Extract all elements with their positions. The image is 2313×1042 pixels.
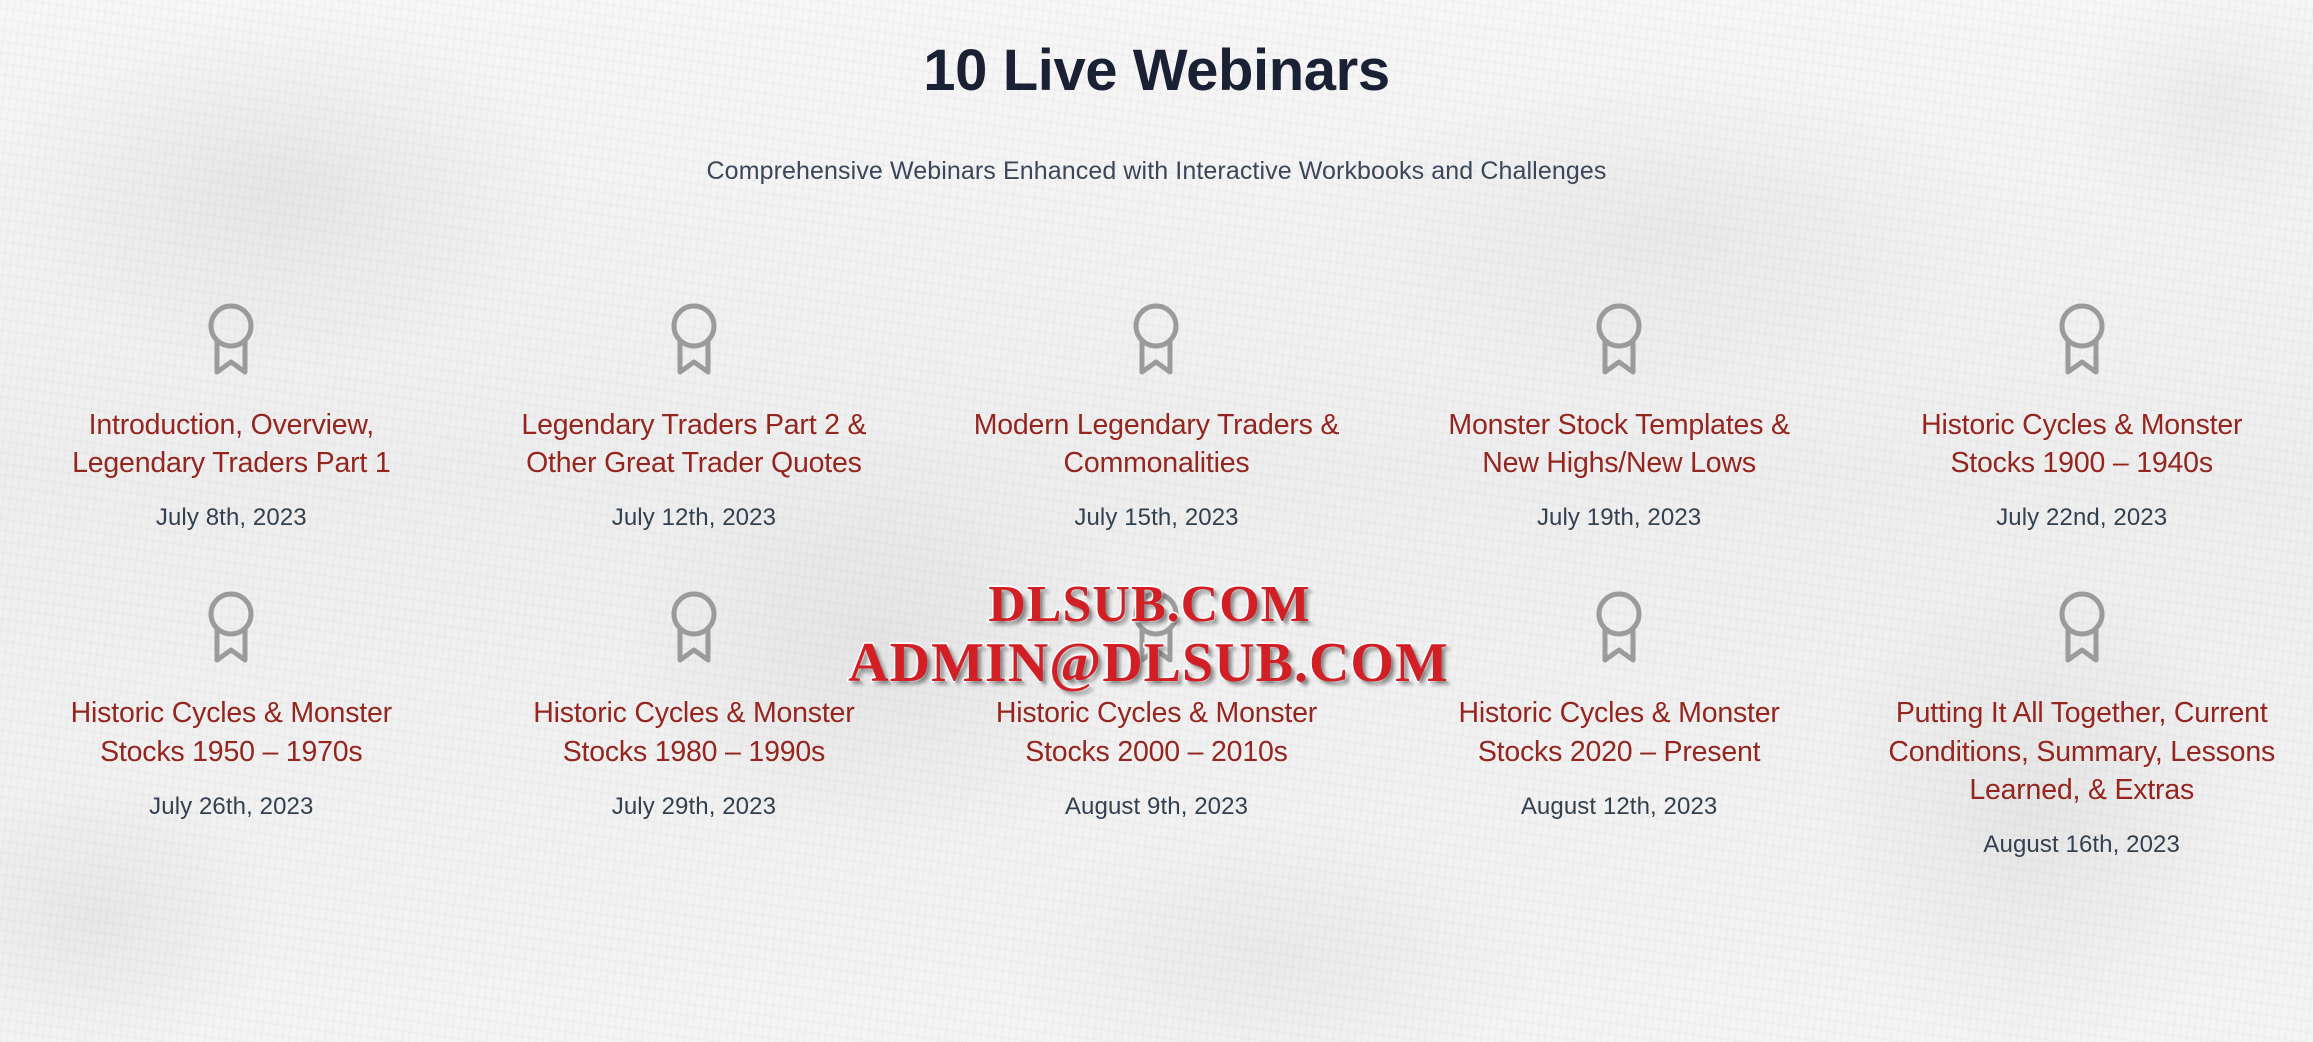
webinar-date: July 15th, 2023 <box>1074 504 1238 532</box>
webinar-card[interactable]: Historic Cycles & Monster Stocks 2020 – … <box>1388 588 1851 859</box>
webinar-title: Historic Cycles & Monster Stocks 1900 – … <box>1882 406 2282 482</box>
webinar-date: July 22nd, 2023 <box>1996 504 2167 532</box>
webinar-card[interactable]: Modern Legendary Traders & Commonalities… <box>925 300 1388 532</box>
webinar-card[interactable]: Introduction, Overview, Legendary Trader… <box>0 300 463 532</box>
webinar-grid: Introduction, Overview, Legendary Trader… <box>0 300 2313 859</box>
webinar-title: Monster Stock Templates & New Highs/New … <box>1419 406 1819 482</box>
webinar-card[interactable]: Historic Cycles & Monster Stocks 1950 – … <box>0 588 463 859</box>
webinar-date: July 19th, 2023 <box>1537 504 1701 532</box>
webinar-date: July 12th, 2023 <box>612 504 776 532</box>
webinar-card[interactable]: Legendary Traders Part 2 & Other Great T… <box>463 300 926 532</box>
award-ribbon-icon <box>2051 588 2113 666</box>
page-header: 10 Live Webinars Comprehensive Webinars … <box>0 0 2313 186</box>
webinar-title: Historic Cycles & Monster Stocks 2020 – … <box>1419 694 1819 770</box>
webinar-date: August 16th, 2023 <box>1983 831 2180 859</box>
webinar-title: Historic Cycles & Monster Stocks 1950 – … <box>31 694 431 770</box>
webinar-title: Historic Cycles & Monster Stocks 2000 – … <box>956 694 1356 770</box>
page-title: 10 Live Webinars <box>0 38 2313 105</box>
webinars-page: 10 Live Webinars Comprehensive Webinars … <box>0 0 2313 1042</box>
webinar-date: July 8th, 2023 <box>156 504 307 532</box>
award-ribbon-icon <box>2051 300 2113 378</box>
webinar-date: July 29th, 2023 <box>612 793 776 821</box>
webinar-date: August 9th, 2023 <box>1065 793 1248 821</box>
award-ribbon-icon <box>1125 300 1187 378</box>
webinar-card[interactable]: Historic Cycles & Monster Stocks 1900 – … <box>1850 300 2313 532</box>
webinar-title: Modern Legendary Traders & Commonalities <box>956 406 1356 482</box>
webinar-date: August 12th, 2023 <box>1521 793 1718 821</box>
webinar-title: Putting It All Together, Current Conditi… <box>1882 694 2282 809</box>
webinar-title: Introduction, Overview, Legendary Trader… <box>31 406 431 482</box>
webinar-title: Historic Cycles & Monster Stocks 1980 – … <box>494 694 894 770</box>
webinar-card[interactable]: Putting It All Together, Current Conditi… <box>1850 588 2313 859</box>
award-ribbon-icon <box>663 588 725 666</box>
award-ribbon-icon <box>200 300 262 378</box>
award-ribbon-icon <box>1125 588 1187 666</box>
page-subtitle: Comprehensive Webinars Enhanced with Int… <box>0 157 2313 186</box>
award-ribbon-icon <box>1588 588 1650 666</box>
award-ribbon-icon <box>663 300 725 378</box>
webinar-title: Legendary Traders Part 2 & Other Great T… <box>494 406 894 482</box>
award-ribbon-icon <box>1588 300 1650 378</box>
webinar-card[interactable]: Historic Cycles & Monster Stocks 2000 – … <box>925 588 1388 859</box>
webinar-date: July 26th, 2023 <box>149 793 313 821</box>
webinar-card[interactable]: Historic Cycles & Monster Stocks 1980 – … <box>463 588 926 859</box>
webinar-card[interactable]: Monster Stock Templates & New Highs/New … <box>1388 300 1851 532</box>
award-ribbon-icon <box>200 588 262 666</box>
